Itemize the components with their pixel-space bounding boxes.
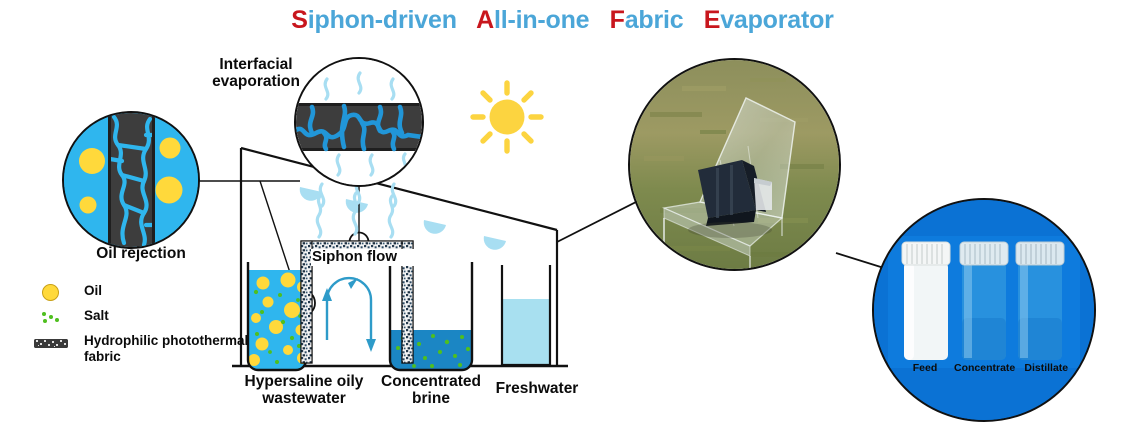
inset-sample-vials: Feed Concentrate Distillate [872,198,1096,422]
label-oil-rejection: Oil rejection [52,245,230,262]
legend: Oil Salt [28,283,258,367]
graphical-abstract-figure: Siphon-driven All-in-one Fabric Evaporat… [0,0,1125,433]
label-concentrated-brine: Concentrated brine [372,373,490,408]
leader-to-photo [557,200,640,242]
vial-label-feed: Feed [896,362,954,374]
legend-label-oil: Oil [84,283,102,299]
beaker-freshwater [502,265,550,365]
legend-item-salt: Salt [28,308,258,333]
legend-item-fabric: Hydrophilic photothermal fabric [28,333,258,367]
label-freshwater: Freshwater [478,380,596,397]
vial-concentrate [960,242,1008,360]
photo-outdoor-solar-still-prototype [628,58,841,271]
fabric-cross-section [108,113,155,247]
legend-item-oil: Oil [28,283,258,308]
legend-label-salt: Salt [84,308,109,324]
vial-label-distillate: Distillate [1015,362,1077,374]
fabric-strip-swatch-icon [34,339,68,348]
sun-icon [468,78,546,156]
fabric-band [296,103,422,151]
vial-distillate [1016,242,1064,360]
vapor-wisps [317,181,395,237]
siphon-flow-arrow [322,278,376,352]
leader-to-vials [836,253,884,268]
legend-label-fabric: Hydrophilic photothermal fabric [84,333,248,364]
oil-droplet-swatch-icon [42,284,59,301]
vial-feed [902,242,950,360]
salt-dots-swatch-icon [42,311,64,325]
vial-label-concentrate: Concentrate [954,362,1015,374]
label-hypersaline-oily-wastewater: Hypersaline oily wastewater [216,373,392,408]
inset-oil-rejection [62,111,200,249]
label-siphon-flow: Siphon flow [311,249,421,266]
label-interfacial-evaporation: Interfacial evaporation [190,56,322,91]
